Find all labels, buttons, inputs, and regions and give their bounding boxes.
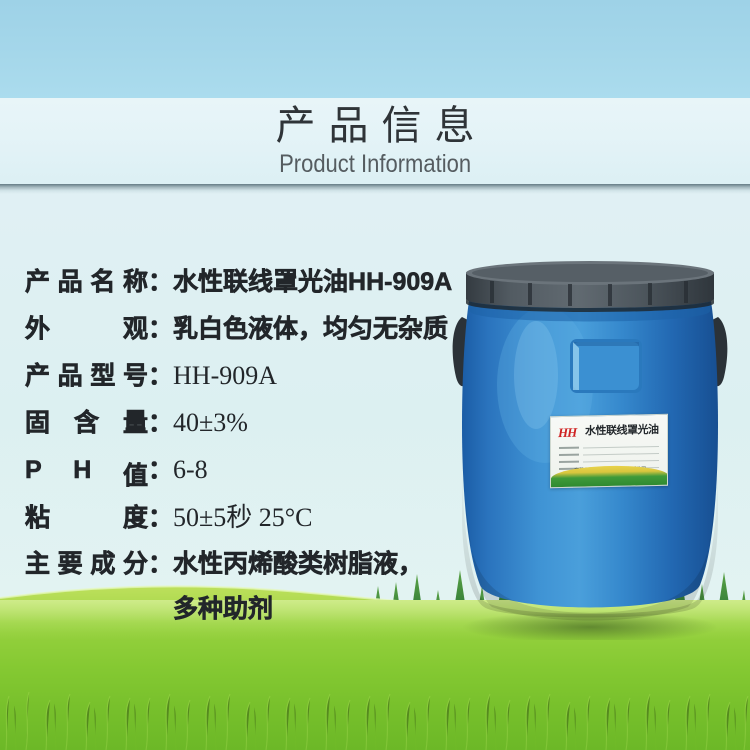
brand-logo-icon: HH bbox=[558, 426, 582, 440]
spec-value: 水性联线罩光油HH-909A bbox=[173, 262, 495, 298]
spec-row: 外观：乳白色液体，均匀无杂质 bbox=[25, 309, 495, 356]
spec-value: 50±5秒 25°C bbox=[173, 497, 495, 534]
spec-colon: ： bbox=[148, 544, 173, 580]
barrel-grip-recess bbox=[570, 339, 642, 393]
spec-label: 产品名称 bbox=[25, 262, 148, 298]
sky-band bbox=[0, 0, 750, 100]
spec-row: 产品名称：水性联线罩光油HH-909A bbox=[25, 262, 495, 309]
page-title: 产品信息 bbox=[263, 106, 488, 146]
spec-colon: ： bbox=[148, 309, 173, 345]
spec-value: 6-8 bbox=[173, 455, 495, 485]
spec-row: PH值：6-8 bbox=[25, 450, 495, 497]
spec-value-line2: 多种助剂 bbox=[173, 589, 495, 625]
spec-value: HH-909A bbox=[173, 361, 495, 391]
spec-label: 粘度 bbox=[25, 498, 148, 534]
barrel-lid bbox=[466, 261, 714, 312]
spec-row: 粘度：50±5秒 25°C bbox=[25, 497, 495, 544]
spec-label: 外观 bbox=[25, 309, 148, 345]
product-spec-list: 产品名称：水性联线罩光油HH-909A外观：乳白色液体，均匀无杂质产品型号：HH… bbox=[25, 262, 495, 625]
spec-colon: ： bbox=[148, 403, 173, 439]
spec-row: 固含量：40±3% bbox=[25, 403, 495, 450]
barrel-product-label: HH 水性联线罩光油 东莞市汇和环保水性油墨有限公司 bbox=[550, 414, 668, 488]
spec-label: 固含量 bbox=[25, 403, 148, 439]
label-product-name: 水性联线罩光油 bbox=[585, 424, 659, 439]
spec-value: 40±3% bbox=[173, 408, 495, 438]
spec-row: 主要成分：水性丙烯酸类树脂液，多种助剂 bbox=[25, 544, 495, 625]
page-subtitle: Product Information bbox=[279, 152, 471, 177]
spec-row: 产品型号：HH-909A bbox=[25, 356, 495, 403]
spec-colon: ： bbox=[148, 262, 173, 298]
banner-drop-shadow bbox=[0, 184, 750, 194]
product-information-page: HH 水性联线罩光油 东莞市汇和环保水性油墨有限公司 产品信息 Product … bbox=[0, 0, 750, 750]
spec-colon: ： bbox=[148, 498, 173, 534]
spec-label: PH值 bbox=[25, 456, 148, 492]
spec-value: 水性丙烯酸类树脂液， bbox=[173, 544, 495, 580]
spec-label: 产品型号 bbox=[25, 356, 148, 392]
spec-value: 乳白色液体，均匀无杂质 bbox=[173, 309, 495, 345]
spec-colon: ： bbox=[148, 356, 173, 392]
header-banner: 产品信息 Product Information bbox=[0, 98, 750, 184]
spec-colon: ： bbox=[148, 450, 173, 486]
spec-label: 主要成分 bbox=[25, 544, 148, 580]
